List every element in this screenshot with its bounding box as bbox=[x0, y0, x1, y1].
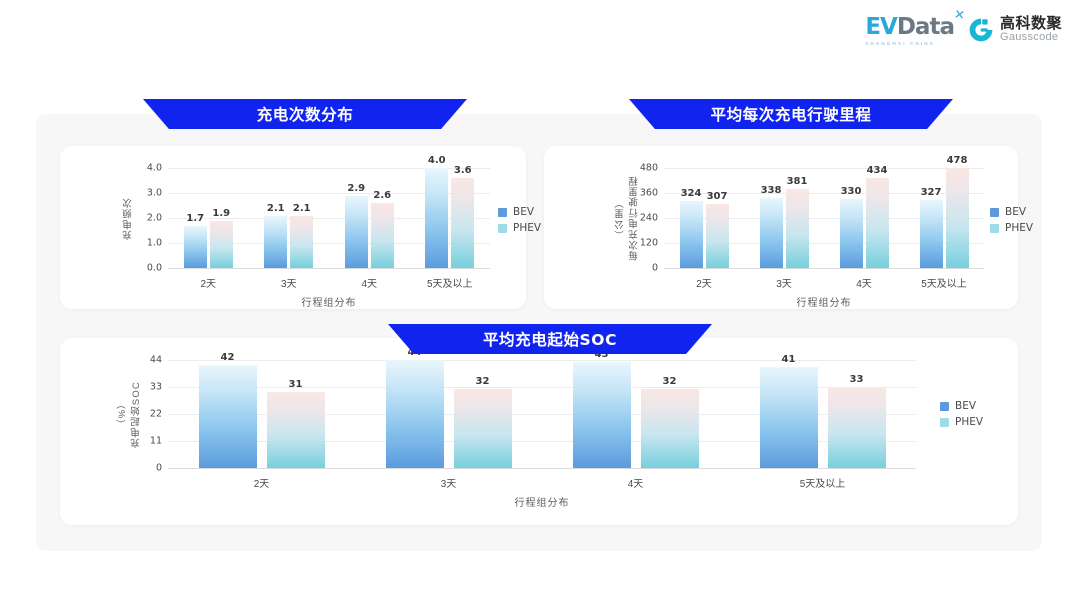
legend-item-bev[interactable]: BEV bbox=[990, 206, 1033, 218]
bar-value-label: 32 bbox=[476, 376, 490, 387]
bar-charging-frequency-bev-3 bbox=[425, 168, 448, 268]
axis-baseline bbox=[168, 268, 490, 269]
bar-value-label: 2.1 bbox=[293, 203, 311, 214]
x-axis-category-label: 5天及以上 bbox=[921, 275, 967, 290]
gridline bbox=[664, 168, 984, 169]
page-header: EV Data ✕ SHANGHAI CHINA 高科数聚 Gausscode bbox=[0, 0, 1080, 62]
x-axis-category-label: 4天 bbox=[856, 275, 872, 290]
bar-avg-range-per-charge-phev-1 bbox=[786, 189, 809, 268]
legend-label: BEV bbox=[513, 206, 534, 218]
legend-item-phev[interactable]: PHEV bbox=[940, 416, 983, 428]
legend-swatch-icon bbox=[940, 402, 949, 411]
bar-value-label: 4.0 bbox=[428, 155, 446, 166]
chart-legend: BEVPHEV bbox=[990, 206, 1033, 234]
y-axis-tick-label: 11 bbox=[128, 436, 162, 447]
evdata-x-icon: ✕ bbox=[953, 6, 966, 23]
gausscode-mark-icon bbox=[968, 17, 994, 43]
legend-label: PHEV bbox=[955, 416, 983, 428]
x-axis-label: 行程组分布 bbox=[515, 494, 570, 509]
gausscode-en-name: Gausscode bbox=[1000, 32, 1062, 44]
chart-title-text: 平均充电起始SOC bbox=[483, 328, 617, 350]
y-axis-tick-label: 44 bbox=[128, 355, 162, 366]
bar-value-label: 478 bbox=[947, 155, 968, 166]
legend-item-phev[interactable]: PHEV bbox=[498, 222, 541, 234]
legend-swatch-icon bbox=[990, 208, 999, 217]
bar-avg-range-per-charge-phev-2 bbox=[866, 178, 889, 268]
bar-avg-start-soc-bev-0 bbox=[199, 365, 257, 468]
y-axis-tick-label: 240 bbox=[624, 213, 658, 224]
chart-plot-avg-range-per-charge: 每次充电行驶里程（公里）01202403604803243072天3383813… bbox=[544, 146, 1018, 309]
bar-charging-frequency-phev-0 bbox=[210, 221, 233, 269]
y-axis-tick-label: 360 bbox=[624, 188, 658, 199]
y-axis-tick-label: 4.0 bbox=[128, 163, 162, 174]
bar-value-label: 41 bbox=[782, 354, 796, 365]
x-axis-category-label: 3天 bbox=[281, 275, 297, 290]
evdata-subtitle: SHANGHAI CHINA bbox=[865, 41, 935, 46]
y-axis-tick-label: 120 bbox=[624, 238, 658, 249]
bar-value-label: 33 bbox=[850, 374, 864, 385]
bar-value-label: 32 bbox=[663, 376, 677, 387]
bar-avg-start-soc-phev-1 bbox=[454, 389, 512, 468]
chart-title-text: 充电次数分布 bbox=[257, 103, 354, 125]
y-axis-tick-label: 1.0 bbox=[128, 238, 162, 249]
y-axis-tick-label: 480 bbox=[624, 163, 658, 174]
bar-value-label: 330 bbox=[841, 186, 862, 197]
bar-value-label: 307 bbox=[707, 191, 728, 202]
bar-value-label: 381 bbox=[787, 176, 808, 187]
legend-item-phev[interactable]: PHEV bbox=[990, 222, 1033, 234]
legend-label: PHEV bbox=[1005, 222, 1033, 234]
bar-avg-range-per-charge-bev-0 bbox=[680, 201, 703, 269]
bar-charging-frequency-bev-1 bbox=[264, 216, 287, 269]
bar-avg-start-soc-phev-0 bbox=[267, 392, 325, 468]
x-axis-category-label: 4天 bbox=[628, 475, 644, 490]
legend-swatch-icon bbox=[940, 418, 949, 427]
chart-plot-charging-frequency: 充电频次0.01.02.03.04.01.71.92天2.12.13天2.92.… bbox=[60, 146, 526, 309]
bar-avg-start-soc-bev-1 bbox=[386, 360, 444, 468]
gridline bbox=[168, 360, 916, 361]
legend-swatch-icon bbox=[990, 224, 999, 233]
bar-charging-frequency-bev-0 bbox=[184, 226, 207, 269]
chart-card-avg-range: 每次充电行驶里程（公里）01202403604803243072天3383813… bbox=[544, 146, 1018, 309]
x-axis-category-label: 5天及以上 bbox=[800, 475, 846, 490]
brand-logos: EV Data ✕ SHANGHAI CHINA 高科数聚 Gausscode bbox=[865, 14, 1062, 46]
gausscode-logo: 高科数聚 Gausscode bbox=[968, 16, 1062, 43]
bar-avg-start-soc-bev-2 bbox=[573, 362, 631, 468]
x-axis-category-label: 2天 bbox=[200, 275, 216, 290]
bar-avg-start-soc-phev-2 bbox=[641, 389, 699, 468]
bar-avg-range-per-charge-bev-3 bbox=[920, 200, 943, 268]
bar-value-label: 42 bbox=[221, 352, 235, 363]
bar-charging-frequency-phev-2 bbox=[371, 203, 394, 268]
bar-value-label: 1.7 bbox=[186, 213, 204, 224]
bar-value-label: 2.9 bbox=[347, 183, 365, 194]
legend-swatch-icon bbox=[498, 208, 507, 217]
evdata-data-text: Data bbox=[897, 14, 954, 40]
chart-card-avg-start-soc: 充电起始SOC（%）01122334442312天44323天43324天413… bbox=[60, 338, 1018, 525]
y-axis-tick-label: 0 bbox=[128, 463, 162, 474]
chart-title-banner-charging-frequency: 充电次数分布 bbox=[143, 99, 467, 129]
bar-avg-range-per-charge-phev-0 bbox=[706, 204, 729, 268]
bar-value-label: 1.9 bbox=[212, 208, 230, 219]
legend-label: PHEV bbox=[513, 222, 541, 234]
chart-plot-avg-start-soc: 充电起始SOC（%）01122334442312天44323天43324天413… bbox=[60, 338, 1018, 525]
chart-title-banner-avg-range: 平均每次充电行驶里程 bbox=[629, 99, 953, 129]
y-axis-tick-label: 22 bbox=[128, 409, 162, 420]
legend-item-bev[interactable]: BEV bbox=[498, 206, 541, 218]
evdata-logo: EV Data ✕ SHANGHAI CHINA bbox=[865, 14, 954, 46]
axis-baseline bbox=[664, 268, 984, 269]
bar-value-label: 434 bbox=[867, 165, 888, 176]
legend-label: BEV bbox=[955, 400, 976, 412]
axis-baseline bbox=[168, 468, 916, 469]
x-axis-label: 行程组分布 bbox=[797, 294, 852, 309]
legend-item-bev[interactable]: BEV bbox=[940, 400, 983, 412]
bar-charging-frequency-bev-2 bbox=[345, 196, 368, 269]
x-axis-label: 行程组分布 bbox=[302, 294, 357, 309]
bar-avg-start-soc-bev-3 bbox=[760, 367, 818, 468]
gausscode-text: 高科数聚 Gausscode bbox=[1000, 16, 1062, 43]
chart-title-text: 平均每次充电行驶里程 bbox=[710, 103, 871, 125]
legend-swatch-icon bbox=[498, 224, 507, 233]
chart-card-charging-frequency: 充电频次0.01.02.03.04.01.71.92天2.12.13天2.92.… bbox=[60, 146, 526, 309]
x-axis-category-label: 2天 bbox=[254, 475, 270, 490]
y-axis-tick-label: 33 bbox=[128, 382, 162, 393]
chart-legend: BEVPHEV bbox=[940, 400, 983, 428]
x-axis-category-label: 5天及以上 bbox=[427, 275, 473, 290]
bar-avg-range-per-charge-phev-3 bbox=[946, 168, 969, 268]
bar-value-label: 2.1 bbox=[267, 203, 285, 214]
bar-avg-start-soc-phev-3 bbox=[828, 387, 886, 468]
bar-avg-range-per-charge-bev-1 bbox=[760, 198, 783, 268]
bar-value-label: 338 bbox=[761, 185, 782, 196]
chart-legend: BEVPHEV bbox=[498, 206, 541, 234]
bar-value-label: 31 bbox=[289, 379, 303, 390]
bar-value-label: 2.6 bbox=[373, 190, 391, 201]
y-axis-tick-label: 0.0 bbox=[128, 263, 162, 274]
bar-value-label: 327 bbox=[921, 187, 942, 198]
bar-charging-frequency-phev-1 bbox=[290, 216, 313, 269]
legend-label: BEV bbox=[1005, 206, 1026, 218]
x-axis-category-label: 2天 bbox=[696, 275, 712, 290]
chart-title-banner-avg-start-soc: 平均充电起始SOC bbox=[388, 324, 712, 354]
x-axis-category-label: 3天 bbox=[441, 475, 457, 490]
bar-value-label: 324 bbox=[681, 188, 702, 199]
x-axis-category-label: 4天 bbox=[361, 275, 377, 290]
x-axis-category-label: 3天 bbox=[776, 275, 792, 290]
bar-avg-range-per-charge-bev-2 bbox=[840, 199, 863, 268]
evdata-wordmark: EV Data ✕ bbox=[865, 14, 954, 40]
y-axis-tick-label: 2.0 bbox=[128, 213, 162, 224]
bar-charging-frequency-phev-3 bbox=[451, 178, 474, 268]
y-axis-tick-label: 3.0 bbox=[128, 188, 162, 199]
bar-value-label: 3.6 bbox=[454, 165, 472, 176]
gausscode-cn-name: 高科数聚 bbox=[1000, 16, 1062, 32]
y-axis-tick-label: 0 bbox=[624, 263, 658, 274]
evdata-ev-text: EV bbox=[865, 14, 897, 40]
